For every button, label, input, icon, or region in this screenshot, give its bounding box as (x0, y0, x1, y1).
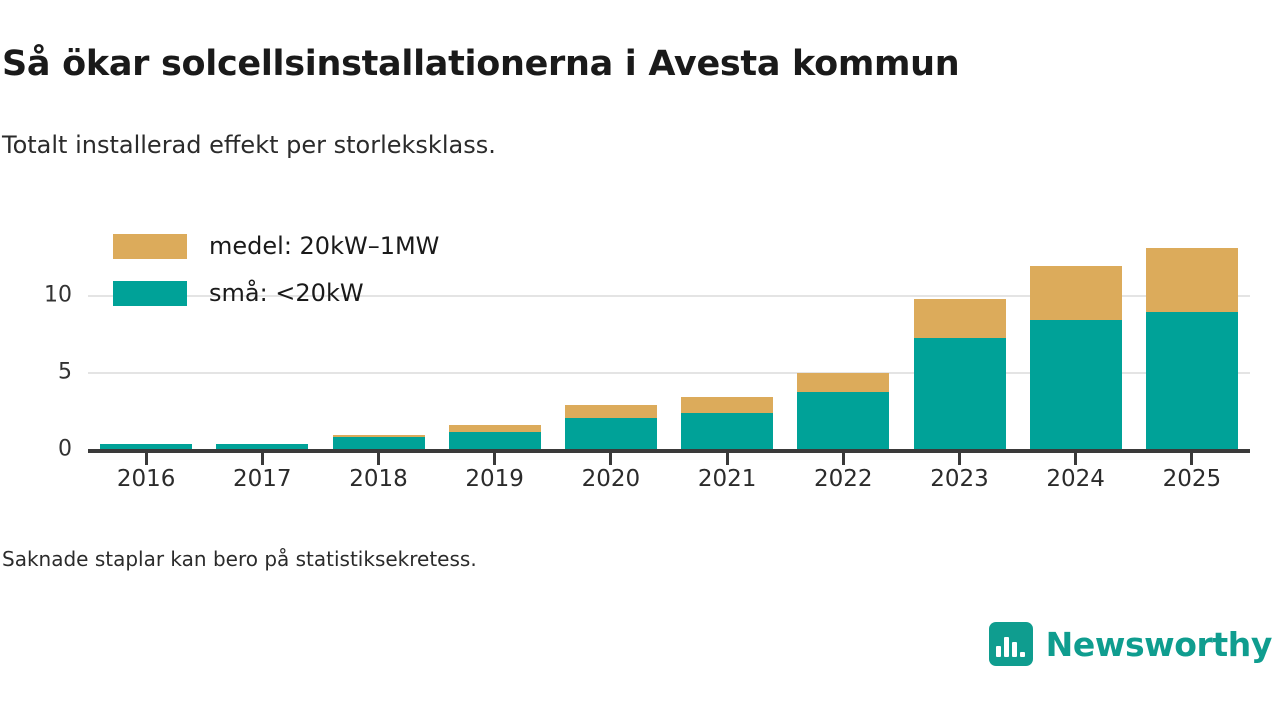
newsworthy-logo: Newsworthy (989, 622, 1272, 666)
legend-swatch-medium (113, 234, 187, 259)
chart-plot-area: 0510201620172018201920202021202220232024… (0, 0, 1280, 720)
legend-label-small: små: <20kW (209, 279, 364, 307)
chart-legend: medel: 20kW–1MWsmå: <20kW (0, 0, 1280, 720)
bar-chart-icon (989, 622, 1033, 666)
legend-label-medium: medel: 20kW–1MW (209, 232, 439, 260)
legend-swatch-small (113, 281, 187, 306)
legend-item-medium[interactable]: medel: 20kW–1MW (113, 232, 439, 260)
brand-name: Newsworthy (1046, 625, 1272, 664)
legend-item-small[interactable]: små: <20kW (113, 279, 364, 307)
chart-footnote: Saknade staplar kan bero på statistiksek… (2, 547, 477, 571)
